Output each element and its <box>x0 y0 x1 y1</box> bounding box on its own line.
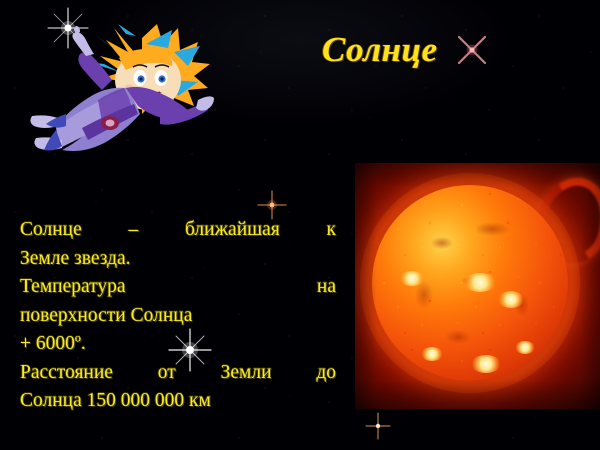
body-line: + 6000º. <box>20 330 336 359</box>
body-line: Температура на <box>20 273 336 302</box>
body-line: Солнца 150 000 000 км <box>20 387 336 416</box>
body-line: поверхности Солнца <box>20 302 336 331</box>
slide-canvas: Солнце Солнце – ближайшая к Земле звезда… <box>0 0 600 450</box>
cartoon-astronaut-boy-illustration <box>22 22 214 162</box>
page-title: Солнце <box>322 30 438 70</box>
sun-photo-vignette <box>355 163 600 409</box>
body-line: Земле звезда. <box>20 245 336 274</box>
body-line: Солнце – ближайшая к <box>20 216 336 245</box>
sun-photograph <box>355 163 600 409</box>
slide-body-text: Солнце – ближайшая к Земле звезда. Темпе… <box>20 216 336 416</box>
cartoon-astronaut-boy <box>22 22 214 162</box>
body-line: Расстояние от Земли до <box>20 359 336 388</box>
